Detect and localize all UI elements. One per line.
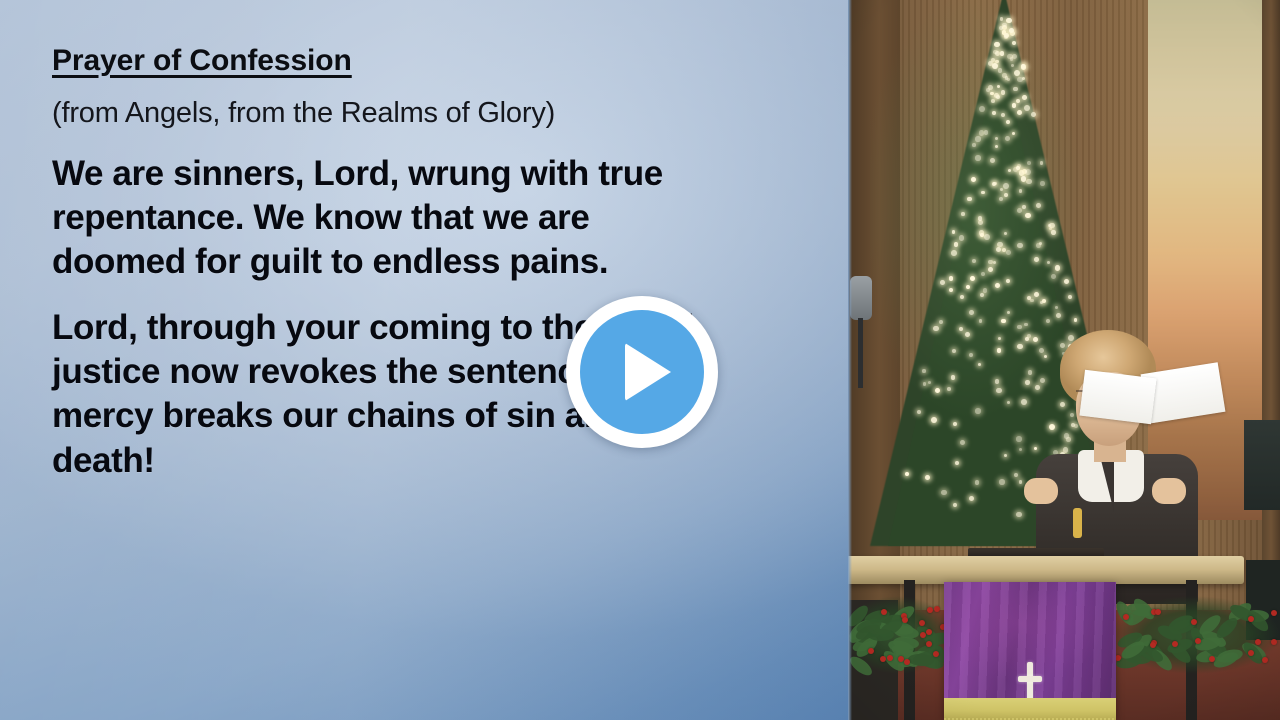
pulpit-banner — [944, 582, 1116, 720]
side-furniture-right — [1244, 420, 1280, 510]
video-frame[interactable] — [848, 0, 1280, 720]
slide-title: Prayer of Confession — [52, 44, 752, 78]
paper-sheet — [1079, 370, 1156, 424]
person-hand-right — [1152, 478, 1186, 504]
person-lapel — [1082, 456, 1114, 512]
presentation-slide: Prayer of Confession (from Angels, from … — [0, 0, 848, 720]
play-button-disc — [580, 310, 704, 434]
microphone-stand — [858, 318, 863, 388]
play-triangle-icon — [625, 343, 671, 401]
slide-subtitle: (from Angels, from the Realms of Glory) — [52, 97, 752, 130]
evergreen-garland-left — [848, 596, 954, 674]
person-lapel-pin — [1073, 508, 1082, 538]
person-hand-left — [1024, 478, 1058, 504]
evergreen-garland-right — [1110, 596, 1280, 674]
video-left-edge — [848, 0, 852, 720]
microphone-icon — [850, 276, 872, 320]
video-player-stage: Prayer of Confession (from Angels, from … — [0, 0, 1280, 720]
play-button[interactable] — [566, 296, 718, 448]
slide-paragraph-1: We are sinners, Lord, wrung with true re… — [52, 152, 712, 284]
banner-fringe — [944, 698, 1116, 720]
